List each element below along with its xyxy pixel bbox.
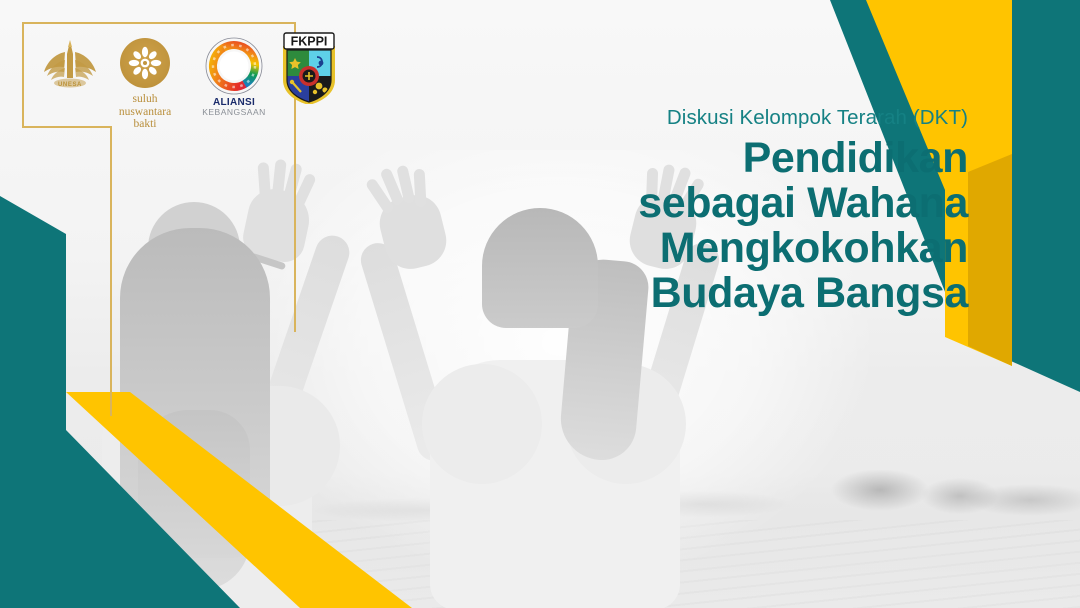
- event-kicker: Diskusi Kelompok Terarah (DKT): [638, 106, 968, 130]
- poster-canvas: UNESA: [0, 0, 1080, 608]
- gold-frame-left: [22, 22, 24, 126]
- snb-line-2: nuswantara: [106, 106, 184, 119]
- logo-unesa: UNESA: [38, 38, 102, 88]
- title-line-2: sebagai Wahana: [638, 181, 968, 226]
- headline-block: Diskusi Kelompok Terarah (DKT) Pendidika…: [638, 106, 968, 316]
- fkppi-shield-icon: FKPPI: [281, 30, 337, 104]
- gold-frame-vertical: [110, 126, 112, 416]
- title-line-1: Pendidikan: [638, 136, 968, 181]
- unesa-winged-crest-icon: [41, 38, 99, 92]
- lotus-medallion-icon: [120, 38, 170, 88]
- aliansi-subtitle: KEBANGSAAN: [194, 107, 274, 117]
- girl-right-hair: [482, 208, 598, 328]
- multicolor-ring-icon: [204, 36, 264, 96]
- logo-aliansi-kebangsaan: ALIANSI KEBANGSAAN: [194, 36, 274, 117]
- title-line-3: Mengkokohkan: [638, 226, 968, 271]
- snb-line-1: suluh: [106, 93, 184, 106]
- suluh-nuswantara-bakti-wordmark: suluh nuswantara bakti: [106, 93, 184, 131]
- logo-row: UNESA: [30, 30, 310, 140]
- logo-suluh-nuswantara-bakti: suluh nuswantara bakti: [106, 38, 184, 131]
- snb-line-3: bakti: [106, 118, 184, 131]
- girl-right-shoulder-left: [422, 364, 542, 484]
- svg-text:FKPPI: FKPPI: [291, 35, 328, 49]
- logo-fkppi: FKPPI: [278, 30, 340, 104]
- title-line-4: Budaya Bangsa: [638, 271, 968, 316]
- page-title: Pendidikan sebagai Wahana Mengkokohkan B…: [638, 136, 968, 316]
- gold-frame-top: [22, 22, 294, 24]
